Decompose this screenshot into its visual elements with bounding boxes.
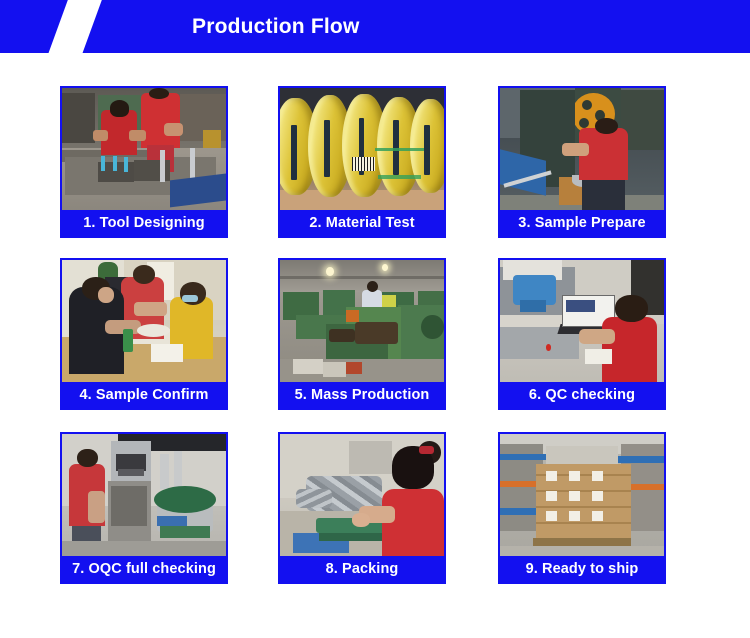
step-caption-1: 1. Tool Designing (62, 210, 226, 236)
step-photo-ready-to-ship (500, 434, 664, 558)
step-caption-5: 5. Mass Production (280, 382, 444, 408)
flow-step-card-7[interactable]: 7. OQC full checking (60, 432, 228, 584)
step-photo-oqc-full-checking (62, 434, 226, 558)
flow-step-card-4[interactable]: 4. Sample Confirm (60, 258, 228, 410)
flow-step-card-2[interactable]: 2. Material Test (278, 86, 446, 238)
step-caption-3: 3. Sample Prepare (500, 210, 664, 236)
page-header: Production Flow (0, 0, 750, 53)
step-caption-9: 9. Ready to ship (500, 556, 664, 582)
step-photo-mass-production (280, 260, 444, 384)
step-photo-sample-prepare (500, 88, 664, 212)
step-caption-6: 6. QC checking (500, 382, 664, 408)
flow-row-2: 4. Sample Confirm 5. Mass Production (0, 258, 750, 433)
step-photo-sample-confirm (62, 260, 226, 384)
header-slash-accent (47, 0, 104, 53)
step-photo-tool-designing (62, 88, 226, 212)
step-caption-2: 2. Material Test (280, 210, 444, 236)
flow-row-1: 1. Tool Designing 2. Material Test (0, 86, 750, 261)
step-photo-packing (280, 434, 444, 558)
step-caption-8: 8. Packing (280, 556, 444, 582)
step-photo-qc-checking (500, 260, 664, 384)
flow-step-card-3[interactable]: 3. Sample Prepare (498, 86, 666, 238)
flow-step-card-9[interactable]: 9. Ready to ship (498, 432, 666, 584)
step-caption-4: 4. Sample Confirm (62, 382, 226, 408)
flow-step-card-6[interactable]: 6. QC checking (498, 258, 666, 410)
flow-row-3: 7. OQC full checking 8. Packing (0, 432, 750, 607)
step-photo-material-test (280, 88, 444, 212)
flow-step-card-5[interactable]: 5. Mass Production (278, 258, 446, 410)
flow-step-card-8[interactable]: 8. Packing (278, 432, 446, 584)
flow-step-card-1[interactable]: 1. Tool Designing (60, 86, 228, 238)
page-title: Production Flow (192, 0, 359, 53)
step-caption-7: 7. OQC full checking (62, 556, 226, 582)
production-flow-grid: 1. Tool Designing 2. Material Test (0, 53, 750, 638)
